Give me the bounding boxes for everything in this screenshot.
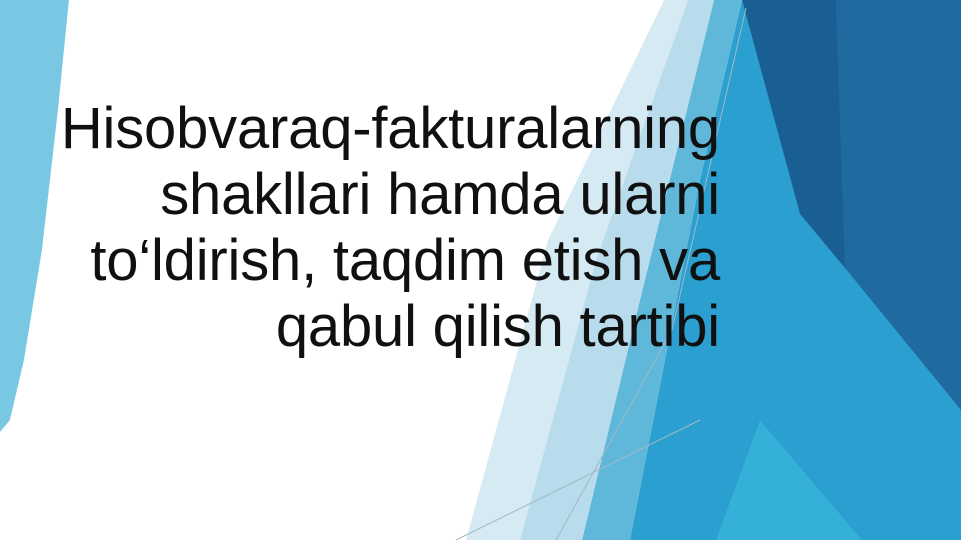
title-line-3: to‘ldirish, taqdim etish va — [20, 228, 720, 294]
title-line-4: qabul qilish tartibi — [20, 294, 720, 360]
right-lower-cyan-shape — [760, 268, 961, 540]
hairline-lower — [456, 420, 700, 540]
title-line-2: shakllari hamda ularni — [20, 162, 720, 228]
right-cluster-bounds — [700, 0, 961, 540]
right-navy-dark-shape — [742, 0, 845, 268]
hairline-mid — [556, 330, 672, 540]
title-line-1: Hisobvaraq-fakturalarning — [20, 96, 720, 162]
right-cyan-base-shape — [700, 0, 961, 540]
slide-title: Hisobvaraq-fakturalarning shakllari hamd… — [20, 96, 720, 360]
right-lower-bright-shape — [716, 420, 862, 540]
presentation-slide: Hisobvaraq-fakturalarning shakllari hamd… — [0, 0, 961, 540]
right-navy-shape — [836, 0, 961, 410]
right-steelblue-shape — [716, 0, 961, 540]
